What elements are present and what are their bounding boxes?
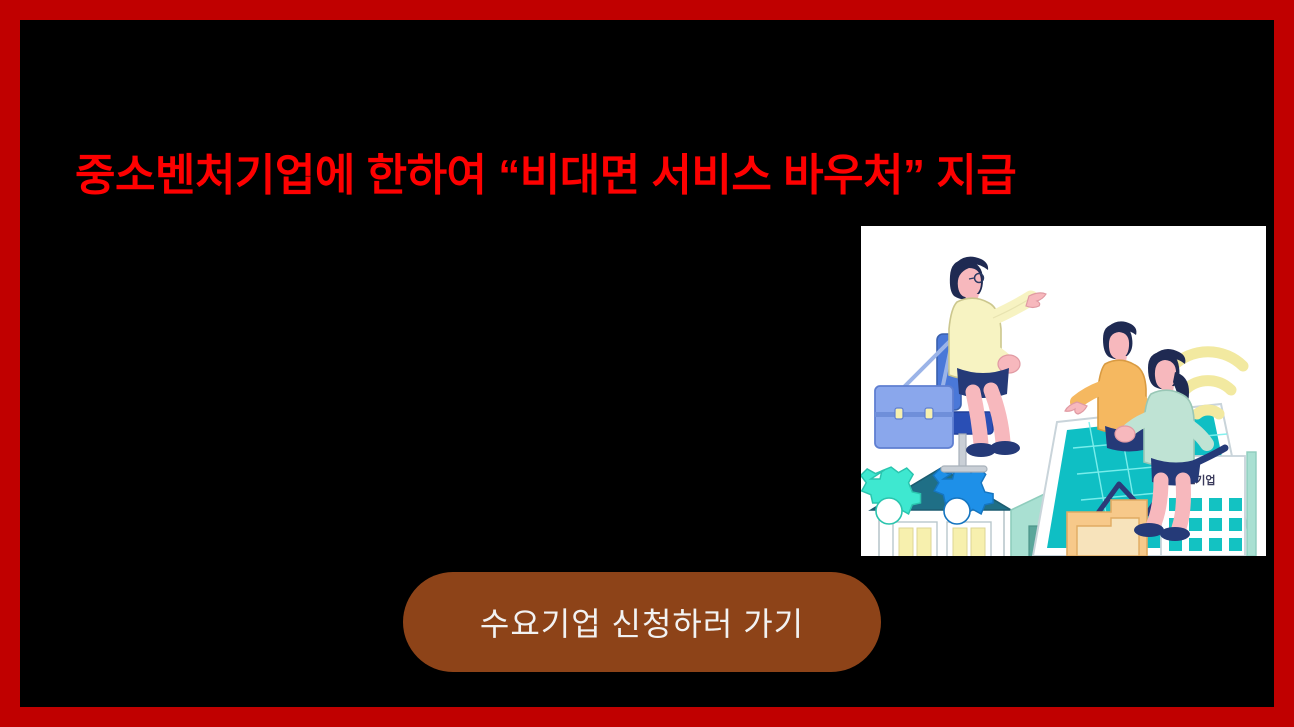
apply-demand-company-button[interactable]: 수요기업 신청하러 가기 bbox=[403, 572, 881, 672]
overlay-caption: 상용화 지원 bbox=[660, 444, 851, 499]
illustration-card: 중소기업 bbox=[861, 226, 1266, 556]
sme-support-illustration: 중소기업 bbox=[861, 226, 1266, 556]
page-title: 중소벤처기업에 한하여 “비대면 서비스 바우처” 지급 bbox=[75, 148, 1205, 203]
slide-root: 중소벤처기업에 한하여 “비대면 서비스 바우처” 지급 bbox=[0, 0, 1294, 727]
slide-content-area: 중소벤처기업에 한하여 “비대면 서비스 바우처” 지급 bbox=[20, 20, 1274, 707]
